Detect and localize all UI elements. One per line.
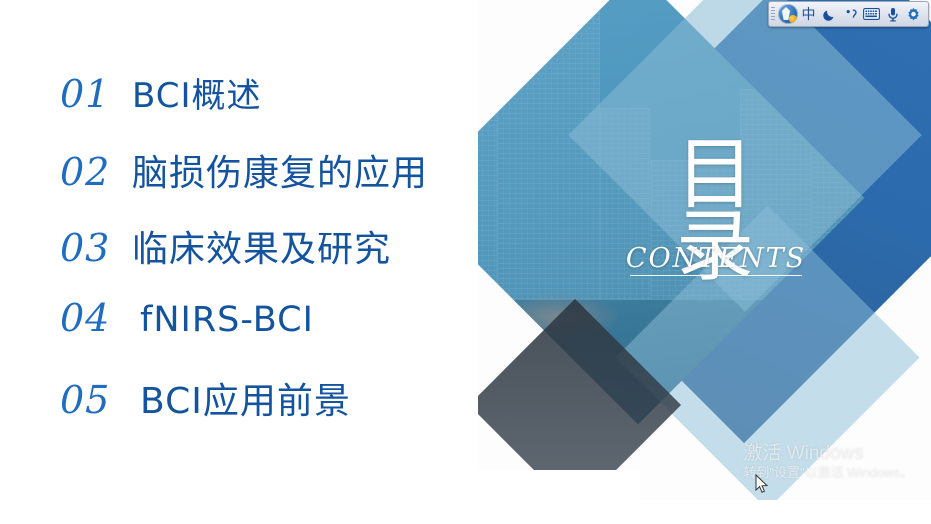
voice-input-icon[interactable] [882, 5, 903, 24]
screenshot-root: 01 BCI概述 02 脑损伤康复的应用 03 临床效果及研究 04 fNIRS… [0, 0, 931, 524]
agenda-item-title: BCI应用前景 [140, 372, 351, 424]
settings-gear-icon[interactable] [903, 5, 924, 24]
chinese-mode-label: 中 [802, 7, 816, 21]
agenda-item[interactable]: 01 BCI概述 [60, 68, 530, 144]
agenda-item-title: fNIRS-BCI [140, 300, 314, 340]
mask-bottom-strip [0, 500, 931, 524]
agenda-item-number: 03 [60, 226, 132, 270]
moon-mode-icon[interactable] [819, 5, 840, 24]
soft-keyboard-icon[interactable] [861, 5, 882, 24]
chinese-mode-icon[interactable]: 中 [798, 5, 819, 24]
agenda-item-number: 04 [60, 296, 132, 340]
agenda-item-title: BCI概述 [132, 68, 262, 117]
agenda-item[interactable]: 05 BCI应用前景 [60, 372, 530, 448]
agenda-item[interactable]: 03 临床效果及研究 [60, 220, 530, 296]
punctuation-mode-icon[interactable] [840, 5, 861, 24]
agenda-item-number: 01 [60, 72, 132, 116]
agenda-list: 01 BCI概述 02 脑损伤康复的应用 03 临床效果及研究 04 fNIRS… [60, 68, 530, 448]
agenda-item[interactable]: 04 fNIRS-BCI [60, 296, 530, 372]
presentation-slide[interactable]: 01 BCI概述 02 脑损伤康复的应用 03 临床效果及研究 04 fNIRS… [0, 0, 931, 524]
agenda-item-title: 临床效果及研究 [132, 220, 391, 272]
agenda-item[interactable]: 02 脑损伤康复的应用 [60, 144, 530, 220]
ime-language-bar[interactable]: 中 [768, 1, 929, 27]
agenda-item-number: 02 [60, 150, 132, 194]
ime-logo-icon[interactable] [778, 4, 798, 24]
agenda-item-number: 05 [60, 378, 132, 422]
agenda-item-title: 脑损伤康复的应用 [132, 144, 428, 196]
